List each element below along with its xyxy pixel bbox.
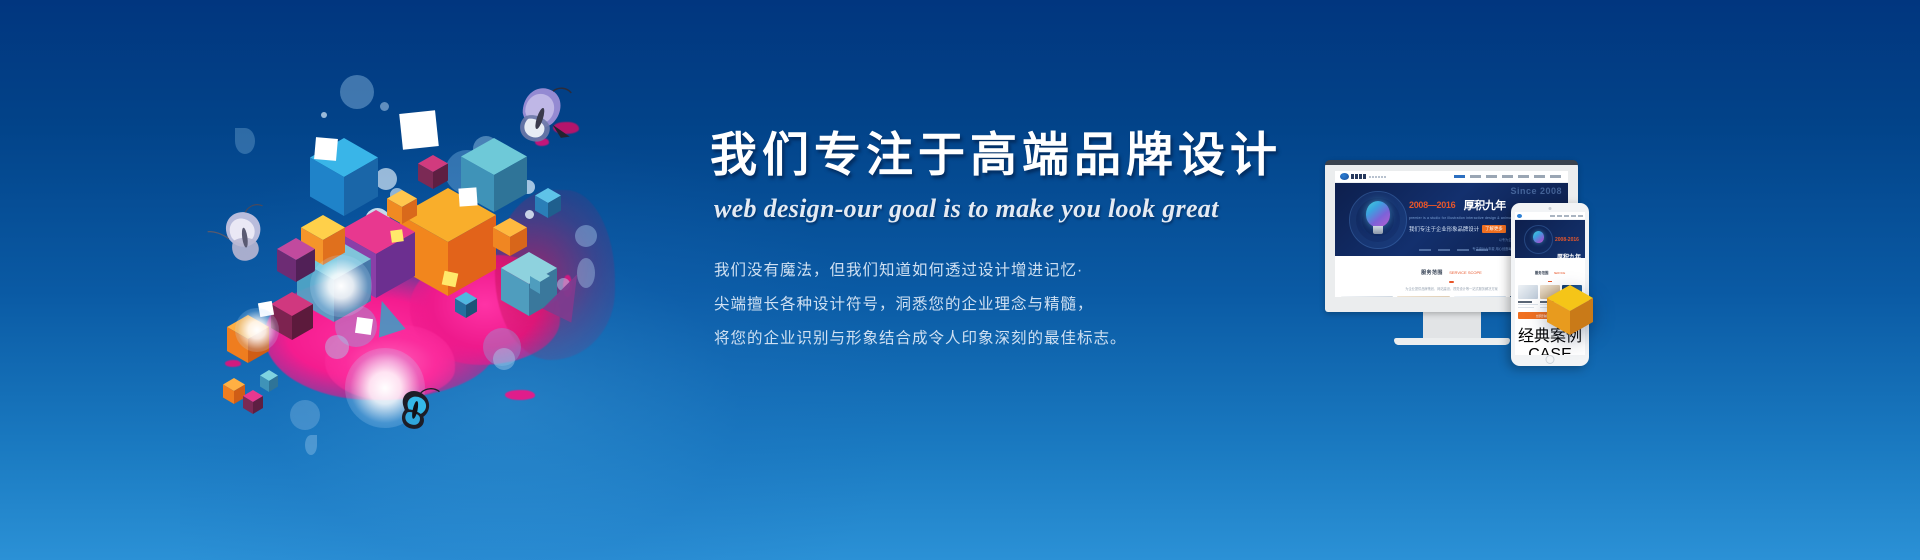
tablet-home-button-icon[interactable] [1546,355,1555,364]
tablet-section-title-cn: 服务范围 [1535,271,1549,275]
tablet-hero-years: 2008-2016 [1555,237,1579,243]
site-logo-tagline [1369,176,1386,178]
monitor-stand-neck [1423,312,1481,338]
tablet-site-logo-icon [1517,214,1522,218]
description-line-2: 尖端擅长各种设计符号，洞悉您的企业理念与精髓， [714,296,1270,313]
hero-banner: 我们专注于高端品牌设计 web design-our goal is to ma… [0,0,1920,560]
site-nav-item-contact[interactable] [1550,175,1561,178]
section-title-en: SERVICE SCOPE [1449,270,1482,275]
site-logo-icon [1340,173,1349,180]
description-line-1: 我们没有魔法，但我们知道如何透过设计增进记忆· [714,262,1270,279]
hero-dot-2[interactable] [1438,249,1450,251]
monitor-stand-base [1394,338,1510,345]
tablet-section-title-en: SERVICE [1554,272,1565,275]
tablet-card-line [1518,307,1534,308]
tablet-site-navbar [1515,212,1585,220]
hero-cta-button[interactable]: 了解更多 [1482,225,1506,233]
abstract-artwork [205,60,675,480]
tablet-hero-text: 2008-2016 厚积九年 专注企业品牌形象设计 了解更多 [1555,228,1585,258]
description-block: 我们没有魔法，但我们知道如何透过设计增进记忆· 尖端擅长各种设计符号，洞悉您的企… [714,262,1270,347]
tablet-camera-icon [1549,207,1552,210]
thumbnail-item[interactable] [1341,296,1393,297]
site-nav-item-news[interactable] [1534,175,1545,178]
tablet-card[interactable] [1518,285,1538,308]
site-nav-item-team[interactable] [1518,175,1529,178]
bulb-glass [1366,201,1390,227]
floating-yellow-cube [1547,285,1593,335]
hero-watermark: Since 2008 [1510,186,1562,196]
tablet-lightbulb-icon [1524,225,1553,254]
lightbulb-icon [1349,191,1407,249]
page-subtitle: web design-our goal is to make you look … [714,194,1270,224]
site-nav-item-cases[interactable] [1486,175,1497,178]
tablet-nav-menu[interactable] [1550,215,1583,217]
hero-text-block: 2008—2016 厚积九年 premier is a studio for i… [1409,196,1521,251]
bulb-base [1373,226,1383,234]
tablet-section-heading: 服务范围 SERVICE [1515,258,1585,282]
hero-dot-4[interactable] [1476,249,1488,251]
butterfly-purple-icon [514,78,584,152]
site-nav-item-home[interactable] [1454,175,1465,178]
thumbnail-item[interactable] [1397,296,1449,297]
hero-slider-dots[interactable] [1419,249,1488,251]
hero-note: 以专为企业服务 [1409,237,1521,242]
site-navbar [1335,171,1568,183]
device-mockups: Since 2008 2008—2016 厚积九年 premier is a s… [1325,160,1655,390]
hero-copy: 我们专注于高端品牌设计 web design-our goal is to ma… [710,128,1270,364]
thumbnail-item[interactable] [1454,296,1506,297]
hero-years: 2008—2016 [1409,200,1455,210]
description-line-3: 将您的企业识别与形象结合成令人印象深刻的最佳标志。 [714,330,1270,347]
butterfly-blue-icon [397,383,439,433]
hero-subtitle-en: premier is a studio for illustration int… [1409,216,1521,220]
hero-title-cn: 厚积九年 [1464,197,1506,213]
tablet-hero-title-cn: 厚积九年 [1557,255,1581,258]
site-logo-text [1351,174,1366,179]
tablet-section2-title-en: CASE [1528,346,1572,355]
site-nav-item-services[interactable] [1502,175,1513,178]
butterfly-layer [205,60,675,480]
page-title: 我们专注于高端品牌设计 [710,128,1270,182]
tablet-hero-banner: 2008-2016 厚积九年 专注企业品牌形象设计 了解更多 [1515,220,1585,258]
hero-dot-3[interactable] [1457,249,1469,251]
site-nav-item-about[interactable] [1470,175,1481,178]
tablet-card-image [1518,285,1538,299]
hero-line: 我们专注于企业形象品牌设计 了解更多 [1409,225,1521,233]
section-title-cn: 服务范围 [1421,270,1443,276]
tablet-card-title [1518,301,1532,303]
section-underline [1449,281,1454,283]
site-nav-menu[interactable] [1454,175,1563,178]
hero-dot-1[interactable] [1419,249,1431,251]
tablet-card-line [1518,304,1538,305]
butterfly-pale-icon [205,204,270,266]
hero-line-text: 我们专注于企业形象品牌设计 [1409,225,1479,233]
